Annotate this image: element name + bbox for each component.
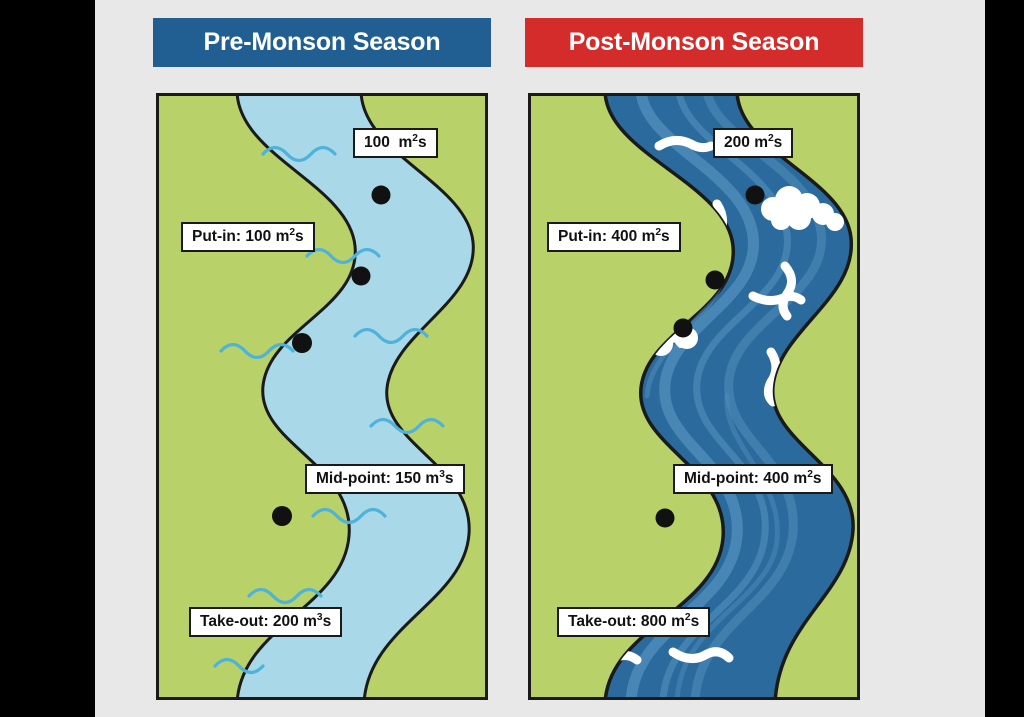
panel-post-monsoon: Post-Monson Season [525,0,863,717]
flow-prefix: Put-in: [192,228,245,245]
station-marker-put-in[interactable] [706,271,725,290]
flow-prefix: Take-out: [568,613,641,630]
station-marker-upper[interactable] [746,186,765,205]
flow-value: 200 [724,134,750,151]
flow-unit: m [754,134,768,151]
flow-suffix: s [774,134,783,151]
station-marker-take-out[interactable] [272,506,292,526]
flow-suffix: s [813,470,822,487]
flow-value: 800 [641,613,667,630]
station-marker-put-in[interactable] [352,267,371,286]
flow-value: 150 [395,470,421,487]
flow-value: 400 [611,228,637,245]
season-header-post-monsoon: Post-Monson Season [525,18,863,67]
season-title-pre-monsoon: Pre-Monson Season [204,28,441,57]
flow-label-upper-post: 200 m2s [713,128,793,158]
season-header-pre-monsoon: Pre-Monson Season [153,18,491,67]
flow-unit: m [303,613,317,630]
flow-unit: m [399,134,413,151]
flow-suffix: s [691,613,700,630]
diagram-canvas: Pre-Monson Season [95,0,985,717]
season-title-post-monsoon: Post-Monson Season [569,28,820,57]
screenshot-stage: Pre-Monson Season [0,0,1024,717]
station-marker-mid[interactable] [292,333,312,353]
panel-pre-monsoon: Pre-Monson Season [153,0,491,717]
flow-value: 100 [364,134,390,151]
station-marker-upper[interactable] [372,186,391,205]
flow-prefix: Mid-point: [684,470,763,487]
station-marker-take-out[interactable] [656,509,675,528]
flow-label-upper-pre: 100 m2s [353,128,438,158]
flow-suffix: s [661,228,670,245]
flow-suffix: s [445,470,454,487]
flow-prefix: Take-out: [200,613,273,630]
flow-suffix: s [295,228,304,245]
flow-value: 200 [273,613,299,630]
station-marker-mid[interactable] [674,319,693,338]
flow-label-mid-point-pre: Mid-point: 150 m3s [305,464,465,494]
flow-suffix: s [418,134,427,151]
flow-unit: m [642,228,656,245]
flow-unit: m [671,613,685,630]
flow-unit: m [425,470,439,487]
flow-label-put-in-pre: Put-in: 100 m2s [181,222,315,252]
flow-value: 400 [763,470,789,487]
flow-label-put-in-post: Put-in: 400 m2s [547,222,681,252]
flow-suffix: s [323,613,332,630]
flow-label-mid-point-post: Mid-point: 400 m2s [673,464,833,494]
flow-unit: m [276,228,290,245]
flow-label-take-out-post: Take-out: 800 m2s [557,607,710,637]
flow-label-take-out-pre: Take-out: 200 m3s [189,607,342,637]
flow-prefix: Put-in: [558,228,611,245]
flow-unit: m [793,470,807,487]
flow-prefix: Mid-point: [316,470,395,487]
flow-value: 100 [245,228,271,245]
